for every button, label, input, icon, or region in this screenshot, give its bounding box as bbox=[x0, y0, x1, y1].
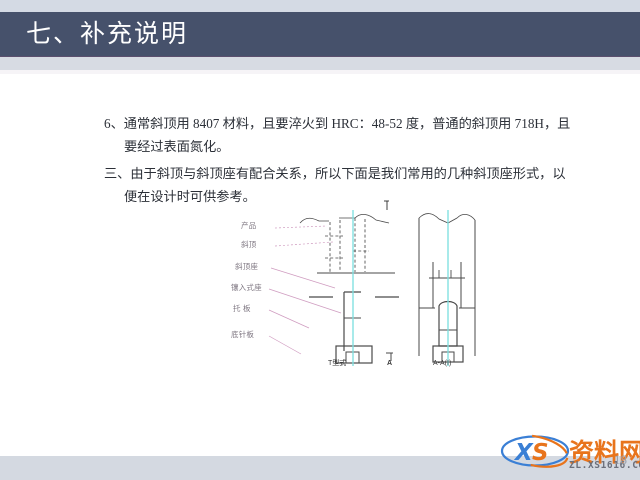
paragraph-6: 6、通常斜顶用 8407 材料，且要淬火到 HRC：48-52 度，普通的斜顶用… bbox=[104, 112, 574, 158]
body-text-block: 6、通常斜顶用 8407 材料，且要淬火到 HRC：48-52 度，普通的斜顶用… bbox=[104, 112, 574, 209]
page-number: 18 bbox=[614, 452, 627, 468]
drawing-svg bbox=[243, 196, 493, 374]
drawing-caption-t-type: T型式 bbox=[328, 358, 346, 368]
svg-text:X: X bbox=[513, 440, 534, 466]
technical-drawing: 产品 斜顶 斜顶座 镶入式座 托 板 底针板 T型式 A A-A(I) bbox=[243, 196, 493, 374]
paragraph-6-line-2: 要经过表面氮化。 bbox=[104, 135, 574, 158]
drawing-caption-section-aa: A-A(I) bbox=[433, 360, 451, 367]
header-under-band-light bbox=[0, 70, 640, 74]
drawing-caption-section-a: A bbox=[387, 360, 392, 367]
header-top-strip bbox=[0, 0, 640, 12]
paragraph-6-line-1: 6、通常斜顶用 8407 材料，且要淬火到 HRC：48-52 度，普通的斜顶用… bbox=[104, 112, 574, 135]
watermark-url: ZL.XS1616.COM bbox=[569, 460, 640, 471]
svg-text:S: S bbox=[532, 440, 549, 466]
drawing-label-support-plate: 托 板 bbox=[233, 303, 251, 314]
watermark-logo-icon: X S bbox=[499, 434, 571, 468]
drawing-label-lifter: 斜顶 bbox=[241, 239, 256, 250]
paragraph-3-line-1: 三、由于斜顶与斜顶座有配合关系，所以下面是我们常用的几种斜顶座形式，以 bbox=[104, 162, 574, 185]
drawing-label-lifter-seat: 斜顶座 bbox=[235, 261, 258, 272]
page-title: 七、补充说明 bbox=[26, 13, 188, 55]
drawing-label-insert-seat: 镶入式座 bbox=[231, 282, 262, 293]
drawing-label-ejector-plate: 底针板 bbox=[231, 329, 254, 340]
slide-canvas: 七、补充说明 6、通常斜顶用 8407 材料，且要淬火到 HRC：48-52 度… bbox=[0, 0, 640, 480]
drawing-label-product: 产品 bbox=[241, 220, 256, 231]
header-under-band bbox=[0, 57, 640, 70]
